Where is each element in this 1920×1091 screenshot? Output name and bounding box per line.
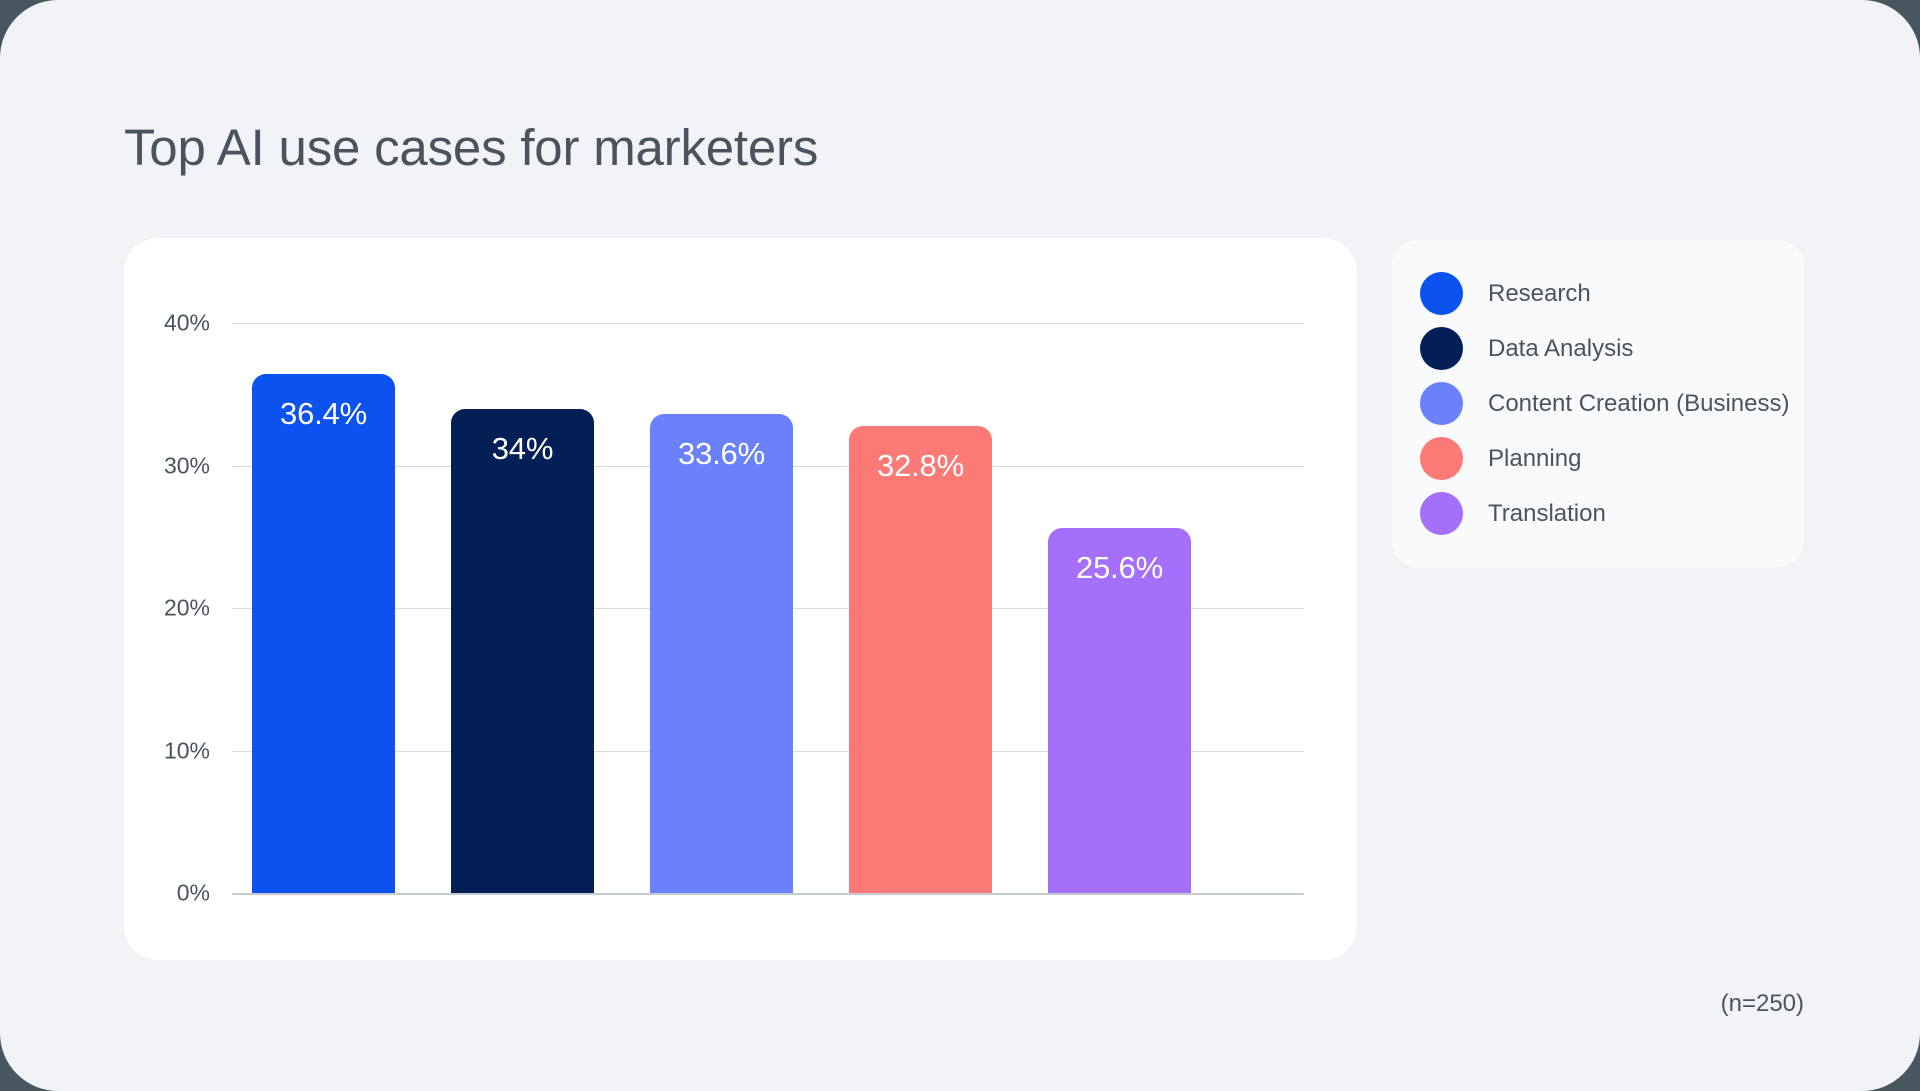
chart-canvas: Top AI use cases for marketers 0%10%20%3… <box>0 0 1920 1091</box>
bar-value-label: 32.8% <box>877 448 964 484</box>
legend-swatch-icon <box>1420 327 1463 370</box>
y-axis-tick-label: 0% <box>177 880 210 907</box>
legend-item[interactable]: Data Analysis <box>1420 321 1774 376</box>
sample-size-note: (n=250) <box>1721 990 1804 1018</box>
bar-value-label: 36.4% <box>280 396 367 432</box>
chart-legend: ResearchData AnalysisContent Creation (B… <box>1392 240 1804 567</box>
bar[interactable]: 32.8% <box>849 426 992 893</box>
bar-value-label: 33.6% <box>678 436 765 472</box>
legend-item-label: Data Analysis <box>1488 335 1633 363</box>
legend-item-label: Research <box>1488 280 1591 308</box>
page-title: Top AI use cases for marketers <box>124 118 818 177</box>
legend-swatch-icon <box>1420 382 1463 425</box>
legend-item[interactable]: Translation <box>1420 486 1774 541</box>
legend-swatch-icon <box>1420 437 1463 480</box>
legend-item-label: Planning <box>1488 445 1581 473</box>
x-axis-line: 0% <box>232 893 1304 895</box>
plot-area: 0%10%20%30%40% 36.4%34%33.6%32.8%25.6% <box>232 323 1304 893</box>
bar-value-label: 25.6% <box>1076 550 1163 586</box>
y-axis-tick-label: 30% <box>164 452 210 479</box>
legend-item[interactable]: Planning <box>1420 431 1774 486</box>
bar-value-label: 34% <box>492 431 553 467</box>
legend-item-label: Translation <box>1488 500 1606 528</box>
legend-swatch-icon <box>1420 272 1463 315</box>
legend-swatch-icon <box>1420 492 1463 535</box>
chart-card: 0%10%20%30%40% 36.4%34%33.6%32.8%25.6% <box>124 238 1357 960</box>
bar-series: 36.4%34%33.6%32.8%25.6% <box>232 323 1304 893</box>
legend-item-label: Content Creation (Business) <box>1488 390 1789 418</box>
legend-item[interactable]: Content Creation (Business) <box>1420 376 1774 431</box>
bar[interactable]: 25.6% <box>1048 528 1191 893</box>
y-axis-tick-label: 40% <box>164 310 210 337</box>
legend-item[interactable]: Research <box>1420 266 1774 321</box>
bar[interactable]: 33.6% <box>650 414 793 893</box>
bar[interactable]: 34% <box>451 409 594 894</box>
bar[interactable]: 36.4% <box>252 374 395 893</box>
y-axis-tick-label: 10% <box>164 737 210 764</box>
y-axis-tick-label: 20% <box>164 595 210 622</box>
